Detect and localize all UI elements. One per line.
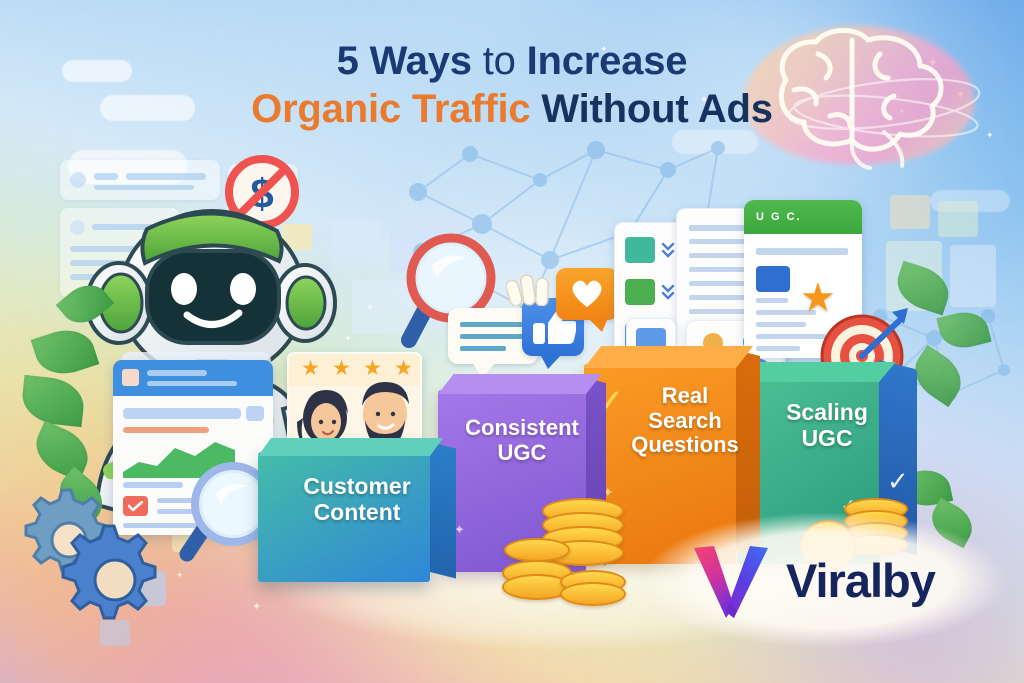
ugc-card-header: U G C. <box>744 200 862 234</box>
title-line2-rest: Without Ads <box>530 87 772 131</box>
gold-coins-icon <box>506 498 656 608</box>
title-line1-bold2: Increase <box>527 39 688 83</box>
hero-illustration: ✦ ✦ ✦ ✦ ✦ ✦ ✦ ✦ ✦ ✦ ✦ ✦ <box>0 0 1024 683</box>
box-consistent-ugc-label: ConsistentUGC <box>438 416 606 465</box>
chevron-down-icon <box>661 283 675 301</box>
heart-bubble <box>556 268 618 320</box>
title-line1-bold: 5 Ways <box>337 39 472 83</box>
title-line2-accent: Organic Traffic <box>251 87 530 131</box>
hand-icon <box>506 272 552 306</box>
logo-wordmark: Viralby <box>786 553 935 608</box>
title-line1-light: to <box>472 39 527 83</box>
star-icon: ★ <box>332 358 351 380</box>
viralby-logo[interactable]: Viralby <box>690 540 950 620</box>
box-customer-content: CustomerContent <box>258 452 456 582</box>
box-scaling-ugc-label: ScalingUGC <box>737 400 917 452</box>
sparkle-icon: ✦ <box>176 570 184 581</box>
page-title: 5 Ways to Increase Organic Traffic Witho… <box>0 40 1024 131</box>
gears-icon <box>12 478 162 628</box>
sparkle-icon: ✦ <box>986 130 994 141</box>
star-icon: ★ <box>301 358 320 380</box>
box-customer-content-label: CustomerContent <box>258 474 456 526</box>
viralby-v-logo <box>690 540 774 620</box>
ugc-card-header-label: U G C. <box>756 211 802 223</box>
heart-icon <box>570 278 604 308</box>
checkmark-icon: ✓ <box>887 466 909 497</box>
chevron-down-icon <box>661 241 675 259</box>
